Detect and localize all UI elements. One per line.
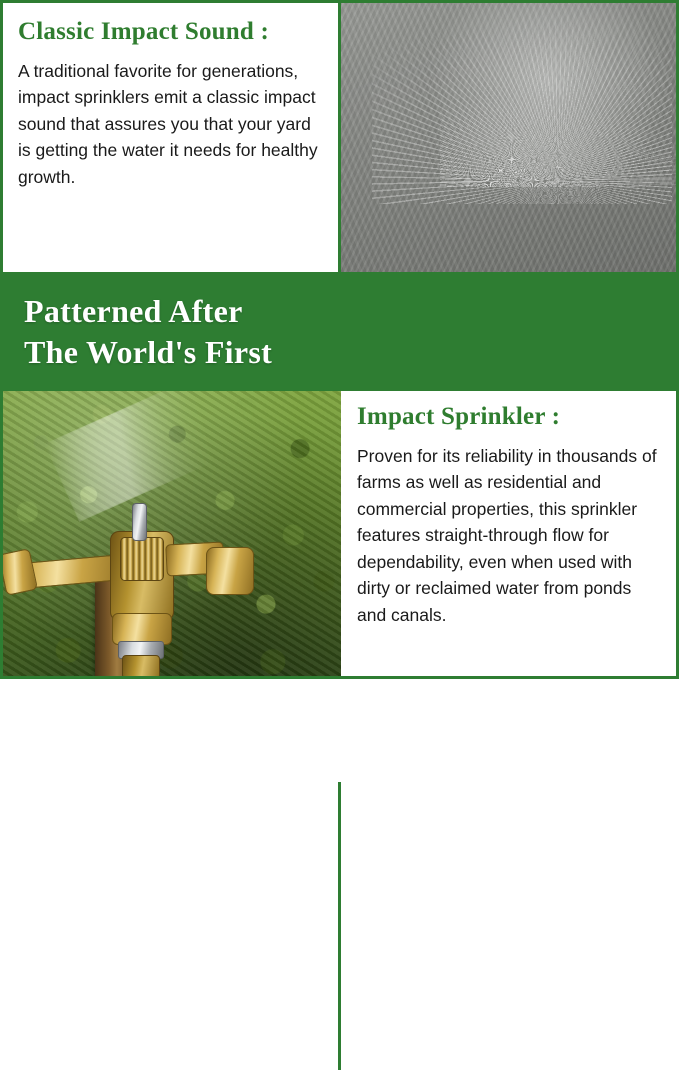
product-feature-infographic: Classic Impact Sound : A traditional fav…	[0, 0, 679, 679]
banner-line-2: The World's First	[24, 332, 272, 373]
classic-impact-sound-heading: Classic Impact Sound :	[18, 18, 318, 46]
horizontal-divider-bottom	[0, 388, 679, 391]
top-vertical-divider	[338, 0, 341, 275]
horizontal-divider-top	[0, 272, 679, 275]
bottom-text-panel: Impact Sprinkler : Proven for its reliab…	[341, 391, 679, 679]
wooden-mounting-post	[95, 570, 135, 679]
top-section: Classic Impact Sound : A traditional fav…	[0, 0, 679, 275]
top-text-panel: Classic Impact Sound : A traditional fav…	[0, 0, 338, 275]
banner-line-1: Patterned After	[24, 293, 243, 329]
water-spray-jet	[440, 77, 679, 187]
sprinkler-garden-photo	[0, 391, 341, 679]
bottom-vertical-divider	[338, 782, 341, 1070]
bottom-section: Impact Sprinkler : Proven for its reliab…	[0, 391, 679, 679]
impact-sprinkler-heading: Impact Sprinkler :	[357, 403, 663, 431]
banner-text-block: Patterned After The World's First	[24, 291, 272, 373]
sprinkler-wall-photo	[338, 0, 679, 275]
green-banner: Patterned After The World's First	[0, 275, 679, 391]
classic-impact-sound-body: A traditional favorite for generations, …	[18, 58, 318, 191]
impact-sprinkler-body: Proven for its reliability in thousands …	[357, 443, 663, 629]
